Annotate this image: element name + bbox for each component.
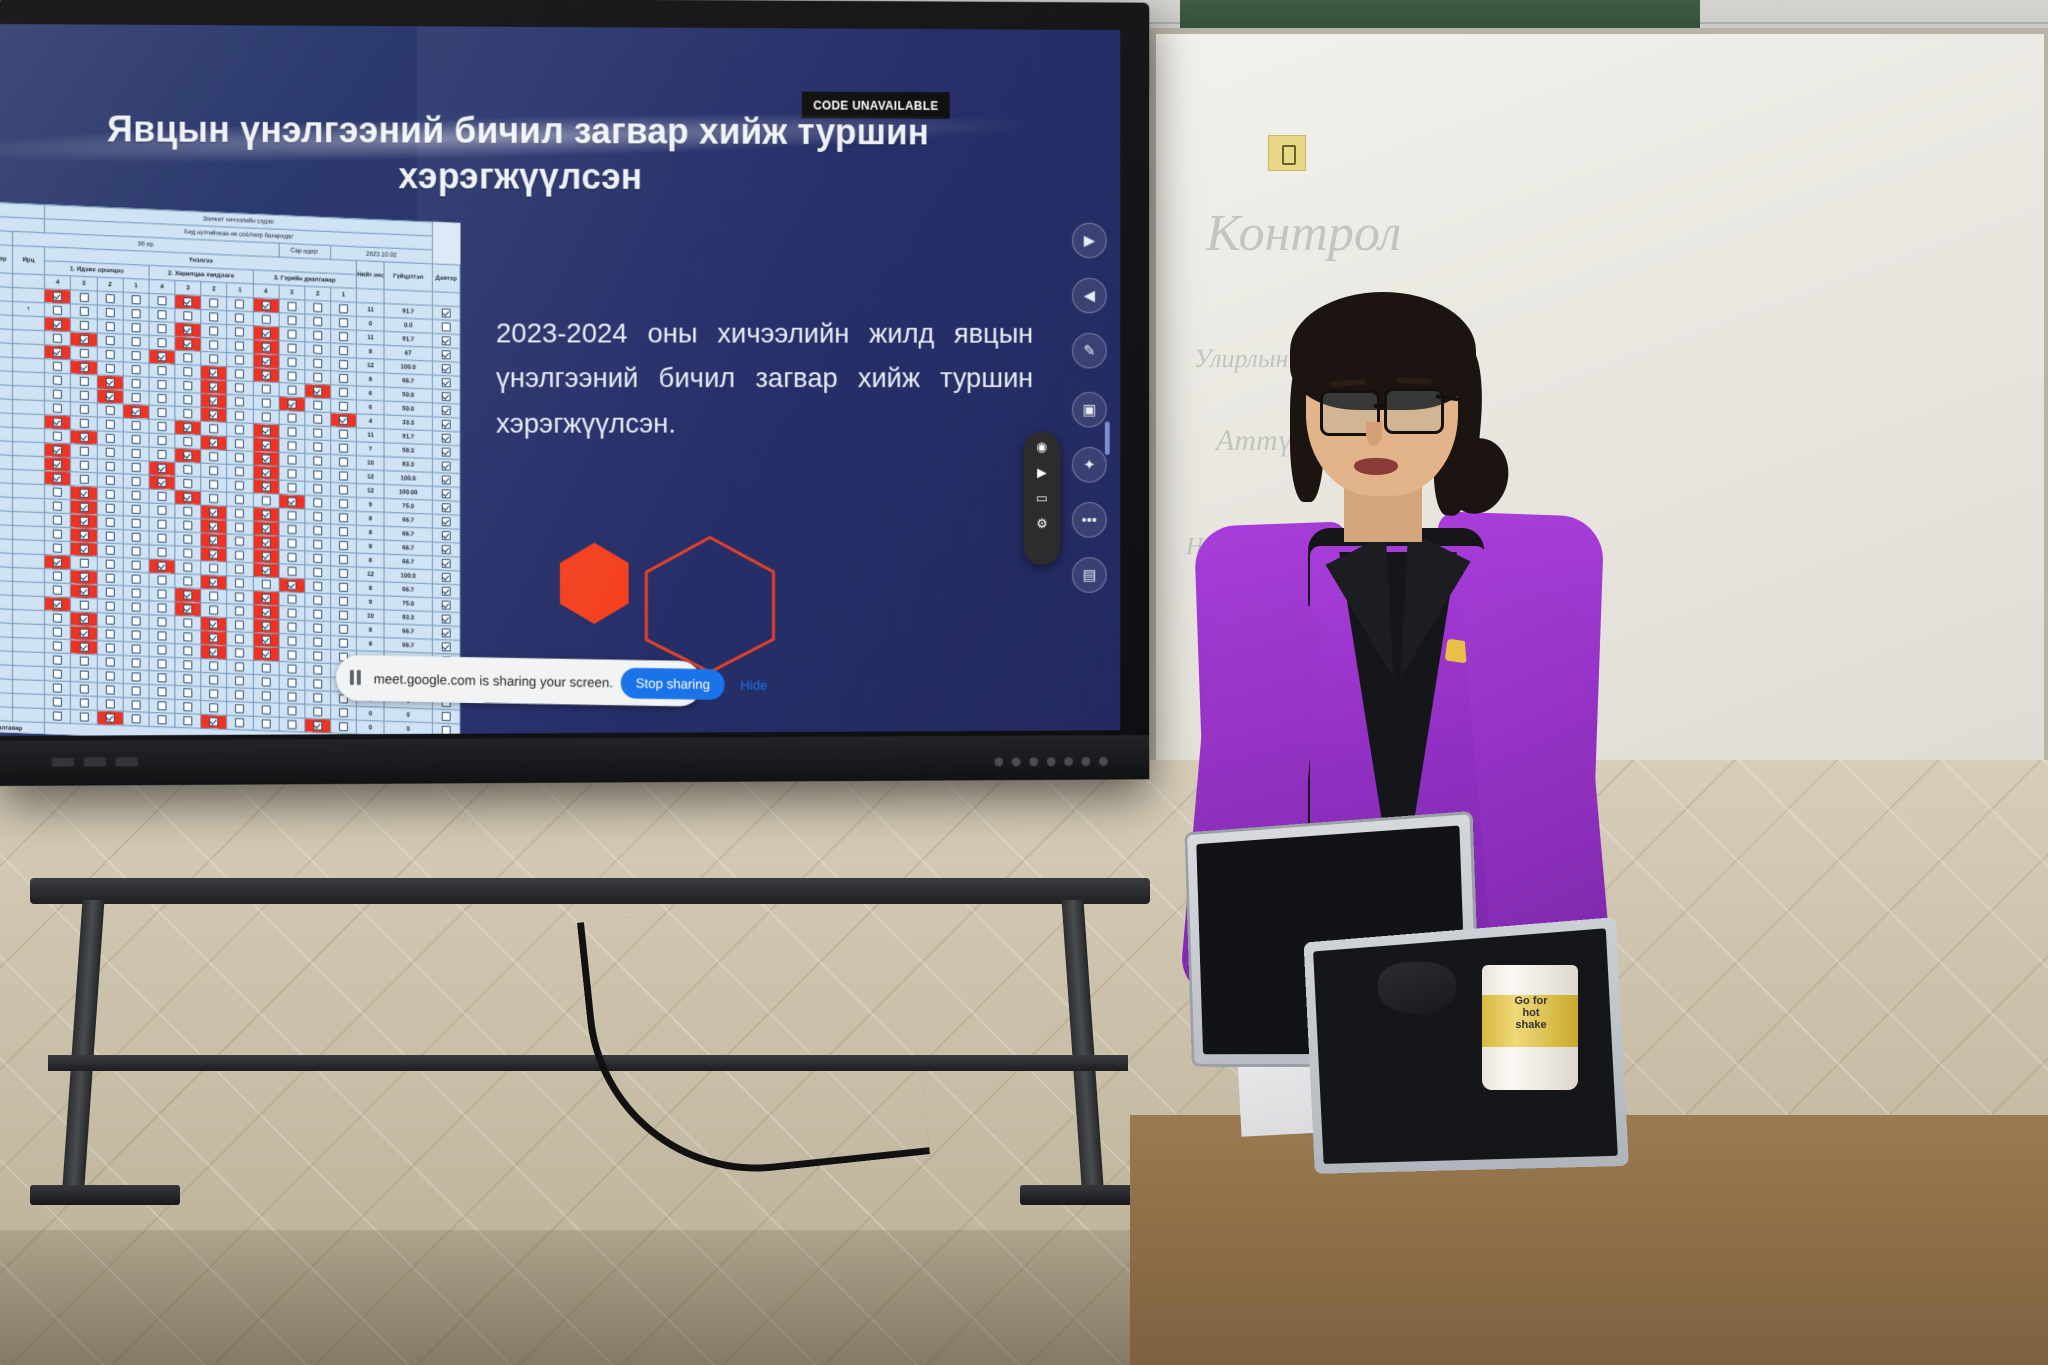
checkbox-icon[interactable] [313, 568, 322, 577]
score-cell[interactable] [71, 570, 97, 585]
checkbox-icon[interactable] [261, 440, 270, 449]
score-cell[interactable] [279, 299, 305, 314]
checkbox-icon[interactable] [183, 716, 192, 725]
checkbox-icon[interactable] [131, 644, 140, 653]
checkbox-icon[interactable] [183, 507, 192, 516]
checkbox-icon[interactable] [157, 562, 166, 571]
checkbox-icon[interactable] [287, 636, 296, 645]
score-cell[interactable] [227, 604, 253, 619]
score-cell[interactable] [253, 354, 279, 369]
checkbox-icon[interactable] [313, 526, 322, 535]
score-cell[interactable] [253, 688, 279, 703]
score-cell[interactable] [149, 684, 175, 699]
checkbox-icon[interactable] [261, 468, 270, 477]
score-cell[interactable] [123, 292, 149, 307]
checkbox-icon[interactable] [287, 678, 296, 687]
score-cell[interactable] [253, 549, 279, 564]
checkbox-icon[interactable] [157, 366, 166, 375]
score-cell[interactable] [201, 477, 227, 492]
attendance-cell[interactable] [12, 581, 45, 596]
checkbox-icon[interactable] [209, 368, 218, 377]
checkbox-icon[interactable] [209, 536, 218, 545]
score-cell[interactable] [331, 301, 357, 316]
attendance-cell[interactable] [12, 343, 45, 358]
score-cell[interactable] [123, 306, 149, 321]
checkbox-icon[interactable] [235, 453, 244, 462]
score-cell[interactable] [175, 616, 201, 631]
checkbox-icon[interactable] [235, 300, 244, 309]
checkbox-icon[interactable] [105, 601, 114, 610]
checkbox-icon[interactable] [131, 519, 140, 528]
notebook-cell[interactable] [432, 486, 460, 501]
score-cell[interactable] [201, 393, 227, 408]
score-cell[interactable] [305, 328, 331, 343]
attendance-cell[interactable] [12, 329, 45, 344]
score-cell[interactable] [149, 335, 175, 350]
checkbox-icon[interactable] [209, 619, 218, 628]
score-cell[interactable] [201, 324, 227, 339]
checkbox-icon[interactable] [53, 348, 62, 357]
checkbox-icon[interactable] [235, 439, 244, 448]
score-cell[interactable] [279, 452, 305, 467]
checkbox-icon[interactable] [339, 541, 348, 550]
score-cell[interactable] [253, 633, 279, 648]
score-cell[interactable] [253, 451, 279, 466]
score-cell[interactable] [227, 659, 253, 674]
score-cell[interactable] [279, 508, 305, 523]
checkbox-icon[interactable] [235, 509, 244, 518]
student-name-cell[interactable]: ...жавхлан [0, 523, 12, 540]
score-cell[interactable] [71, 584, 97, 599]
student-name-cell[interactable]: ...сугар [0, 481, 12, 498]
score-cell[interactable] [253, 409, 279, 424]
checkbox-icon[interactable] [339, 513, 348, 522]
score-cell[interactable] [201, 659, 227, 674]
attendance-cell[interactable]: т [12, 301, 45, 316]
attendance-cell[interactable] [12, 637, 45, 652]
score-cell[interactable] [331, 454, 357, 469]
score-cell[interactable] [97, 319, 123, 334]
checkbox-icon[interactable] [105, 322, 114, 331]
score-cell[interactable] [175, 462, 201, 477]
checkbox-icon[interactable] [442, 587, 451, 596]
score-cell[interactable] [227, 339, 253, 354]
notebook-cell[interactable] [432, 709, 460, 724]
checkbox-icon[interactable] [53, 655, 62, 664]
score-cell[interactable] [45, 681, 71, 696]
checkbox-icon[interactable] [442, 448, 451, 457]
score-cell[interactable] [279, 480, 305, 495]
checkbox-icon[interactable] [235, 704, 244, 713]
score-cell[interactable] [45, 471, 71, 486]
checkbox-icon[interactable] [235, 718, 244, 727]
checkbox-icon[interactable] [235, 355, 244, 364]
score-cell[interactable] [331, 399, 357, 414]
checkbox-icon[interactable] [157, 617, 166, 626]
screen-share-bar[interactable]: meet.google.com is sharing your screen. … [336, 655, 702, 707]
hide-button[interactable]: Hide [732, 671, 775, 698]
score-cell[interactable] [123, 530, 149, 545]
score-cell[interactable] [175, 476, 201, 491]
checkbox-icon[interactable] [287, 483, 296, 492]
checkbox-icon[interactable] [287, 385, 296, 394]
checkbox-icon[interactable] [131, 407, 140, 416]
score-cell[interactable] [331, 636, 357, 651]
checkbox-icon[interactable] [339, 555, 348, 564]
score-cell[interactable] [149, 475, 175, 490]
checkbox-icon[interactable] [287, 567, 296, 576]
score-cell[interactable] [97, 445, 123, 460]
checkbox-icon[interactable] [131, 575, 140, 584]
checkbox-icon[interactable] [287, 469, 296, 478]
checkbox-icon[interactable] [339, 346, 348, 355]
checkbox-icon[interactable] [183, 660, 192, 669]
checkbox-icon[interactable] [53, 501, 62, 510]
student-name-cell[interactable]: ...нэн [0, 369, 12, 386]
checkbox-icon[interactable] [235, 676, 244, 685]
checkbox-icon[interactable] [79, 670, 88, 679]
score-cell[interactable] [149, 573, 175, 588]
checkbox-icon[interactable] [339, 402, 348, 411]
score-cell[interactable] [71, 654, 97, 669]
score-cell[interactable] [279, 689, 305, 704]
checkbox-icon[interactable] [183, 479, 192, 488]
checkbox-icon[interactable] [131, 463, 140, 472]
checkbox-icon[interactable] [287, 427, 296, 436]
score-cell[interactable] [45, 457, 71, 472]
checkbox-icon[interactable] [157, 506, 166, 515]
checkbox-icon[interactable] [209, 354, 218, 363]
score-cell[interactable] [227, 422, 253, 437]
settings-gear-icon[interactable]: ⚙ [1032, 515, 1051, 532]
score-cell[interactable] [305, 426, 331, 441]
checkbox-icon[interactable] [79, 600, 88, 609]
checkbox-icon[interactable] [105, 657, 114, 666]
student-name-cell[interactable]: ...а-Очир [0, 383, 12, 400]
student-name-cell[interactable]: ...иаа [0, 284, 12, 301]
score-cell[interactable] [253, 702, 279, 717]
checkbox-icon[interactable] [53, 432, 62, 441]
checkbox-icon[interactable] [313, 317, 322, 326]
more-icon[interactable]: ••• [1072, 502, 1107, 537]
checkbox-icon[interactable] [339, 499, 348, 508]
score-cell[interactable] [175, 658, 201, 673]
score-cell[interactable] [279, 634, 305, 649]
checkbox-icon[interactable] [131, 533, 140, 542]
score-cell[interactable] [305, 439, 331, 454]
checkbox-icon[interactable] [287, 539, 296, 548]
score-cell[interactable] [97, 305, 123, 320]
score-cell[interactable] [201, 421, 227, 436]
checkbox-icon[interactable] [157, 631, 166, 640]
notebook-cell[interactable] [432, 626, 460, 641]
score-cell[interactable] [71, 514, 97, 529]
score-cell[interactable] [71, 696, 97, 711]
checkbox-icon[interactable] [261, 482, 270, 491]
notebook-cell[interactable] [432, 417, 460, 432]
checkbox-icon[interactable] [313, 623, 322, 632]
video-icon[interactable]: ▶ [1032, 464, 1051, 481]
display-screen[interactable]: Ээлжит хичээлийн сэдэв:Бид нутгийнхаа өв… [0, 24, 1120, 736]
checkbox-icon[interactable] [287, 358, 296, 367]
checkbox-icon[interactable] [261, 496, 270, 505]
student-name-cell[interactable]: ...үрэн [0, 649, 12, 666]
notebook-cell[interactable] [432, 528, 460, 543]
checkbox-icon[interactable] [442, 712, 451, 721]
score-cell[interactable] [253, 479, 279, 494]
score-cell[interactable] [45, 527, 71, 542]
checkbox-icon[interactable] [157, 408, 166, 417]
capture-icon[interactable]: ▣ [1072, 392, 1107, 427]
checkbox-icon[interactable] [235, 537, 244, 546]
score-cell[interactable] [123, 711, 149, 726]
score-cell[interactable] [149, 447, 175, 462]
checkbox-icon[interactable] [131, 421, 140, 430]
attendance-cell[interactable] [12, 553, 45, 568]
checkbox-icon[interactable] [131, 616, 140, 625]
checkbox-icon[interactable] [157, 673, 166, 682]
score-cell[interactable] [97, 361, 123, 376]
score-cell[interactable] [123, 474, 149, 489]
score-cell[interactable] [305, 676, 331, 691]
float-menu[interactable]: ◉ ▶ ▭ ⚙ [1024, 431, 1061, 565]
checkbox-icon[interactable] [442, 475, 451, 484]
score-cell[interactable] [227, 478, 253, 493]
checkbox-icon[interactable] [105, 532, 114, 541]
checkbox-icon[interactable] [157, 548, 166, 557]
checkbox-icon[interactable] [105, 573, 114, 582]
checkbox-icon[interactable] [157, 464, 166, 473]
score-cell[interactable] [71, 332, 97, 347]
score-cell[interactable] [149, 503, 175, 518]
notebook-cell[interactable] [432, 500, 460, 515]
score-cell[interactable] [227, 380, 253, 395]
score-cell[interactable] [175, 588, 201, 603]
score-cell[interactable] [149, 531, 175, 546]
score-cell[interactable] [45, 597, 71, 612]
checkbox-icon[interactable] [442, 322, 451, 331]
checkbox-icon[interactable] [157, 436, 166, 445]
checkbox-icon[interactable] [105, 448, 114, 457]
score-cell[interactable] [71, 709, 97, 724]
score-cell[interactable] [97, 710, 123, 725]
checkbox-icon[interactable] [235, 648, 244, 657]
checkbox-icon[interactable] [209, 396, 218, 405]
checkbox-icon[interactable] [235, 523, 244, 532]
score-cell[interactable] [279, 327, 305, 342]
checkbox-icon[interactable] [313, 637, 322, 646]
checkbox-icon[interactable] [442, 420, 451, 429]
checkbox-icon[interactable] [183, 549, 192, 558]
score-cell[interactable] [45, 611, 71, 626]
score-cell[interactable] [253, 647, 279, 662]
checkbox-icon[interactable] [183, 423, 192, 432]
checkbox-icon[interactable] [157, 296, 166, 305]
score-cell[interactable] [123, 572, 149, 587]
score-cell[interactable] [305, 495, 331, 510]
score-cell[interactable] [175, 308, 201, 323]
checkbox-icon[interactable] [53, 488, 62, 497]
camera-icon[interactable]: ◉ [1032, 438, 1051, 455]
score-cell[interactable] [227, 325, 253, 340]
attendance-cell[interactable] [12, 567, 45, 582]
score-cell[interactable] [305, 537, 331, 552]
score-cell[interactable] [123, 446, 149, 461]
checkbox-icon[interactable] [339, 708, 348, 717]
score-cell[interactable] [45, 639, 71, 654]
checkbox-icon[interactable] [131, 505, 140, 514]
checkbox-icon[interactable] [235, 467, 244, 476]
score-cell[interactable] [45, 695, 71, 710]
checkbox-icon[interactable] [53, 585, 62, 594]
checkbox-icon[interactable] [131, 630, 140, 639]
student-name-cell[interactable]: ...Эрдэнэ [0, 565, 12, 582]
checkbox-icon[interactable] [131, 435, 140, 444]
checkbox-icon[interactable] [209, 410, 218, 419]
score-cell[interactable] [45, 709, 71, 724]
score-cell[interactable] [253, 312, 279, 327]
checkbox-icon[interactable] [79, 642, 88, 651]
checkbox-icon[interactable] [183, 493, 192, 502]
checkbox-icon[interactable] [261, 552, 270, 561]
score-cell[interactable] [253, 493, 279, 508]
attendance-cell[interactable] [12, 441, 45, 456]
score-cell[interactable] [149, 615, 175, 630]
notebook-cell[interactable] [432, 459, 460, 474]
checkbox-icon[interactable] [261, 608, 270, 617]
score-cell[interactable] [149, 391, 175, 406]
score-cell[interactable] [123, 404, 149, 419]
checkbox-icon[interactable] [105, 629, 114, 638]
checkbox-icon[interactable] [53, 571, 62, 580]
checkbox-icon[interactable] [53, 306, 62, 315]
score-cell[interactable] [279, 424, 305, 439]
checkbox-icon[interactable] [442, 503, 451, 512]
attendance-cell[interactable] [12, 371, 45, 386]
checkbox-icon[interactable] [287, 455, 296, 464]
student-name-cell[interactable]: ...зая [0, 691, 12, 708]
notebook-cell[interactable] [432, 403, 460, 418]
score-cell[interactable] [201, 575, 227, 590]
checkbox-icon[interactable] [261, 426, 270, 435]
score-cell[interactable] [97, 669, 123, 684]
checkbox-icon[interactable] [339, 457, 348, 466]
score-cell[interactable] [253, 716, 279, 731]
checkbox-icon[interactable] [339, 527, 348, 536]
score-cell[interactable] [45, 331, 71, 346]
checkbox-icon[interactable] [287, 664, 296, 673]
score-cell[interactable] [305, 412, 331, 427]
score-cell[interactable] [97, 696, 123, 711]
checkbox-icon[interactable] [157, 324, 166, 333]
score-cell[interactable] [149, 643, 175, 658]
score-cell[interactable] [201, 351, 227, 366]
score-cell[interactable] [149, 670, 175, 685]
score-cell[interactable] [227, 408, 253, 423]
checkbox-icon[interactable] [235, 607, 244, 616]
score-cell[interactable] [253, 382, 279, 397]
score-cell[interactable] [279, 494, 305, 509]
checkbox-icon[interactable] [157, 422, 166, 431]
checkbox-icon[interactable] [313, 610, 322, 619]
checkbox-icon[interactable] [261, 677, 270, 686]
score-cell[interactable] [149, 517, 175, 532]
notebook-cell[interactable] [432, 306, 460, 321]
attendance-cell[interactable] [12, 525, 45, 540]
checkbox-icon[interactable] [183, 604, 192, 613]
score-cell[interactable] [305, 662, 331, 677]
score-cell[interactable] [305, 704, 331, 719]
score-cell[interactable] [149, 321, 175, 336]
student-name-cell[interactable]: ...цэцэг [0, 537, 12, 554]
checkbox-icon[interactable] [313, 428, 322, 437]
notebook-cell[interactable] [432, 389, 460, 404]
score-cell[interactable] [97, 682, 123, 697]
notebook-cell[interactable] [432, 361, 460, 376]
checkbox-icon[interactable] [442, 545, 451, 554]
checkbox-icon[interactable] [131, 547, 140, 556]
score-cell[interactable] [279, 536, 305, 551]
checkbox-icon[interactable] [79, 335, 88, 344]
checkbox-icon[interactable] [183, 577, 192, 586]
score-cell[interactable] [71, 304, 97, 319]
checkbox-icon[interactable] [53, 641, 62, 650]
score-cell[interactable] [227, 366, 253, 381]
checkbox-icon[interactable] [105, 546, 114, 555]
student-name-cell[interactable]: ...хэ [0, 326, 12, 343]
score-cell[interactable] [97, 641, 123, 656]
checkbox-icon[interactable] [261, 454, 270, 463]
student-name-cell[interactable]: ...лжингоо [0, 411, 12, 428]
score-cell[interactable] [279, 564, 305, 579]
checkbox-icon[interactable] [261, 635, 270, 644]
checkbox-icon[interactable] [79, 363, 88, 372]
checkbox-icon[interactable] [105, 671, 114, 680]
checkbox-icon[interactable] [209, 452, 218, 461]
checkbox-icon[interactable] [209, 689, 218, 698]
checkbox-icon[interactable] [313, 470, 322, 479]
checkbox-icon[interactable] [287, 553, 296, 562]
checkbox-icon[interactable] [79, 656, 88, 665]
score-cell[interactable] [227, 506, 253, 521]
checkbox-icon[interactable] [209, 647, 218, 656]
checkbox-icon[interactable] [183, 591, 192, 600]
score-cell[interactable] [97, 333, 123, 348]
checkbox-icon[interactable] [79, 489, 88, 498]
score-cell[interactable] [45, 443, 71, 458]
score-cell[interactable] [201, 603, 227, 618]
score-cell[interactable] [149, 307, 175, 322]
checkbox-icon[interactable] [313, 373, 322, 382]
score-cell[interactable] [201, 379, 227, 394]
checkbox-icon[interactable] [79, 503, 88, 512]
checkbox-icon[interactable] [79, 572, 88, 581]
checkbox-icon[interactable] [313, 721, 322, 730]
score-cell[interactable] [175, 644, 201, 659]
checkbox-icon[interactable] [157, 645, 166, 654]
checkbox-icon[interactable] [53, 334, 62, 343]
score-cell[interactable] [175, 602, 201, 617]
checkbox-icon[interactable] [105, 713, 114, 722]
checkbox-icon[interactable] [339, 569, 348, 578]
checkbox-icon[interactable] [442, 726, 451, 735]
checkbox-icon[interactable] [209, 340, 218, 349]
checkbox-icon[interactable] [209, 522, 218, 531]
score-cell[interactable] [279, 592, 305, 607]
score-cell[interactable] [227, 450, 253, 465]
checkbox-icon[interactable] [235, 551, 244, 560]
checkbox-icon[interactable] [79, 461, 88, 470]
